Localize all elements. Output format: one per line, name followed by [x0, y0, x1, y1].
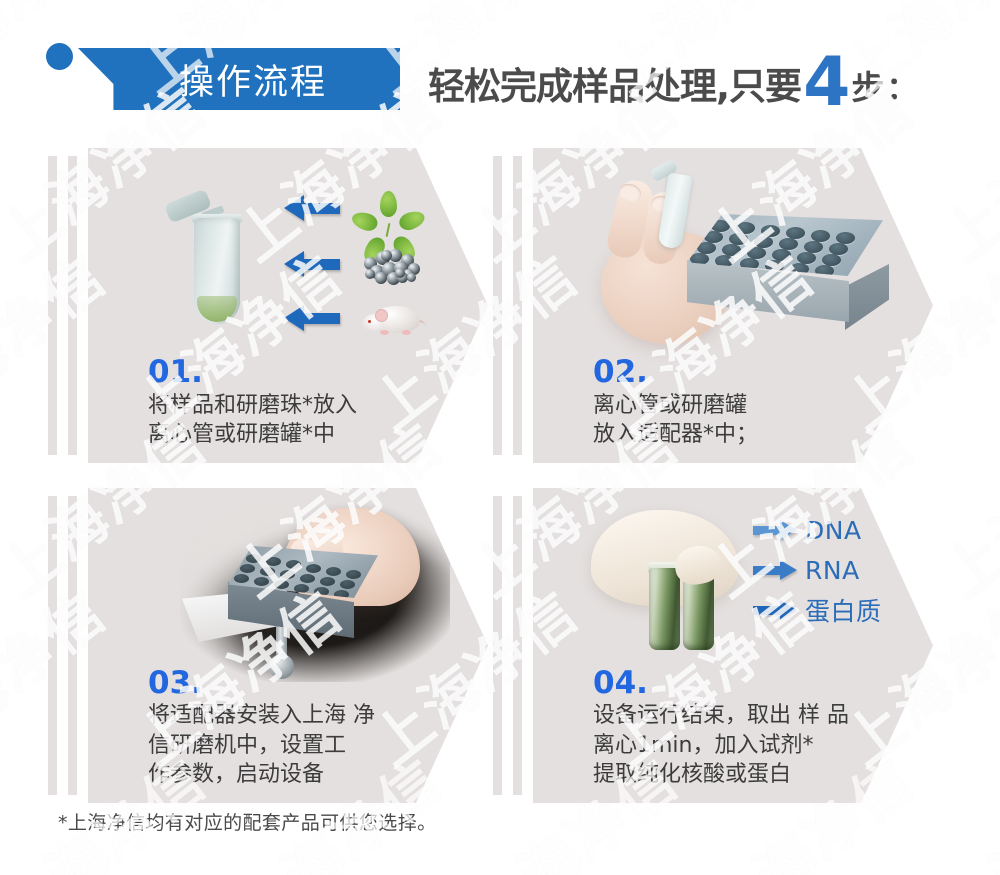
adapter-block-icon	[687, 214, 883, 334]
adapter-well	[815, 265, 834, 277]
adapter-well	[234, 574, 249, 583]
adapter-well	[300, 574, 315, 583]
step-text-line2: 信研磨机中，设置工	[148, 731, 375, 760]
headline-step-count: 4	[803, 56, 850, 110]
adapter-well	[765, 260, 784, 272]
output-label: DNA	[805, 516, 862, 545]
adapter-well	[747, 247, 766, 259]
step-card-body: DNA RNA 蛋白质 04. 设备运行结束，取出 样 品 离心1m	[533, 488, 933, 803]
mouse-icon	[362, 298, 426, 338]
adapter-well	[240, 564, 255, 573]
card-accent-bar-outer	[48, 156, 57, 455]
banner-dot-icon	[46, 43, 73, 70]
step-text-line1: 将适配器安装入上海 净	[148, 701, 375, 730]
watermark-text: 上海净信	[924, 735, 1000, 875]
adapter-well	[326, 567, 341, 576]
step-number: 03.	[148, 667, 375, 700]
sample-row-plant	[284, 188, 460, 228]
output-row-dna: DNA	[753, 510, 925, 550]
adapter-well	[254, 577, 269, 586]
step-text-line2: 离心1min，加入试剂*	[593, 731, 849, 760]
card-accent-bar-outer	[493, 156, 502, 455]
step-number: 04.	[593, 667, 849, 700]
sample-tube-icon	[649, 568, 680, 650]
step-card-body: 02. 离心管或研磨罐 放入适配器*中；	[533, 148, 933, 463]
adapter-well	[320, 577, 335, 586]
footnote-text: *上海净信均有对应的配套产品可供您选择。	[58, 808, 437, 835]
section-banner-label: 操作流程	[78, 48, 400, 110]
step1-illustration	[156, 174, 456, 359]
step-text-line3: 提取纯化核酸或蛋白	[593, 760, 849, 789]
tube-liquid-icon	[197, 296, 237, 322]
arrow-left-icon	[284, 195, 340, 221]
adapter-well	[334, 590, 349, 599]
card-accent-bar-inner	[68, 156, 77, 455]
tube-body-icon	[194, 218, 240, 324]
step1-caption: 01. 将样品和研磨珠*放入 离心管或研磨罐*中	[148, 356, 357, 449]
step4-caption: 04. 设备运行结束，取出 样 品 离心1min，加入试剂* 提取纯化核酸或蛋白	[593, 667, 849, 789]
watermark-text: 上海净信	[924, 399, 1000, 613]
adapter-well	[260, 567, 275, 576]
output-label: RNA	[805, 556, 860, 585]
adapter-well	[306, 564, 321, 573]
step4-illustration: DNA RNA 蛋白质	[585, 506, 925, 681]
step-text-line1: 将样品和研磨珠*放入	[148, 391, 357, 420]
headline-colon: ：	[886, 63, 917, 108]
card-accent-bar-outer	[48, 496, 57, 795]
headline-text-part2: 步	[851, 61, 884, 109]
sample-row-animal	[284, 298, 460, 338]
extraction-output-list: DNA RNA 蛋白质	[753, 510, 925, 630]
adapter-well	[266, 557, 281, 566]
adapter-block-icon	[228, 546, 378, 644]
adapter-well	[754, 236, 773, 248]
step-card-body: 03. 将适配器安装入上海 净 信研磨机中，设置工 作参数，启动设备	[88, 488, 488, 803]
step-card-body: 01. 将样品和研磨珠*放入 离心管或研磨罐*中	[88, 148, 488, 463]
step-text-line3: 作参数，启动设备	[148, 760, 375, 789]
step-number: 02.	[593, 356, 758, 389]
card-accent-bar-inner	[68, 496, 77, 795]
adapter-well	[246, 554, 261, 563]
step2-caption: 02. 离心管或研磨罐 放入适配器*中；	[593, 356, 758, 449]
adapter-well	[797, 252, 816, 264]
adapter-well	[280, 570, 295, 579]
arrow-left-icon	[284, 305, 340, 331]
step2-illustration	[587, 162, 917, 367]
arrow-left-icon	[284, 251, 340, 277]
step-card-03: 03. 将适配器安装入上海 净 信研磨机中，设置工 作参数，启动设备	[48, 488, 488, 803]
page-title: 轻松完成样品处理,只要 4 步 ：	[428, 50, 917, 112]
step-card-02: 02. 离心管或研磨罐 放入适配器*中；	[493, 148, 933, 463]
adapter-well	[286, 560, 301, 569]
arrow-right-icon	[753, 520, 797, 540]
card-accent-bar-inner	[513, 496, 522, 795]
adapter-well	[314, 587, 329, 596]
sample-row-beads	[284, 244, 460, 284]
centrifuge-tube-icon	[194, 196, 240, 324]
step-text-line1: 离心管或研磨罐	[593, 391, 758, 420]
step-card-01: 01. 将样品和研磨珠*放入 离心管或研磨罐*中	[48, 148, 488, 463]
grinding-beads-icon	[362, 245, 420, 283]
card-accent-bar-inner	[513, 156, 522, 455]
adapter-well	[294, 584, 309, 593]
adapter-well	[340, 580, 355, 589]
output-label: 蛋白质	[805, 592, 882, 628]
adapter-well	[274, 580, 289, 589]
adapter-well	[811, 230, 830, 242]
step-text-line1: 设备运行结束，取出 样 品	[593, 701, 849, 730]
arrow-right-icon	[753, 600, 797, 620]
leaf-icon	[362, 183, 414, 233]
page-header: 操作流程 轻松完成样品处理,只要 4 步 ：	[0, 0, 1000, 135]
headline-text-part1: 轻松完成样品处理,只要	[428, 56, 801, 110]
adapter-well	[346, 570, 361, 579]
step-text-line2: 离心管或研磨罐*中	[148, 420, 357, 449]
adapter-well	[761, 225, 780, 237]
step-number: 01.	[148, 356, 357, 389]
output-row-protein: 蛋白质	[753, 590, 925, 630]
step-card-04: DNA RNA 蛋白质 04. 设备运行结束，取出 样 品 离心1m	[493, 488, 933, 803]
step3-caption: 03. 将适配器安装入上海 净 信研磨机中，设置工 作参数，启动设备	[148, 667, 375, 789]
adapter-well	[804, 241, 823, 253]
card-accent-bar-outer	[493, 496, 502, 795]
arrow-right-icon	[753, 560, 797, 580]
step-text-line2: 放入适配器*中；	[593, 420, 758, 449]
output-row-rna: RNA	[753, 550, 925, 590]
adapter-well	[790, 263, 809, 275]
step3-illustration	[180, 504, 450, 689]
